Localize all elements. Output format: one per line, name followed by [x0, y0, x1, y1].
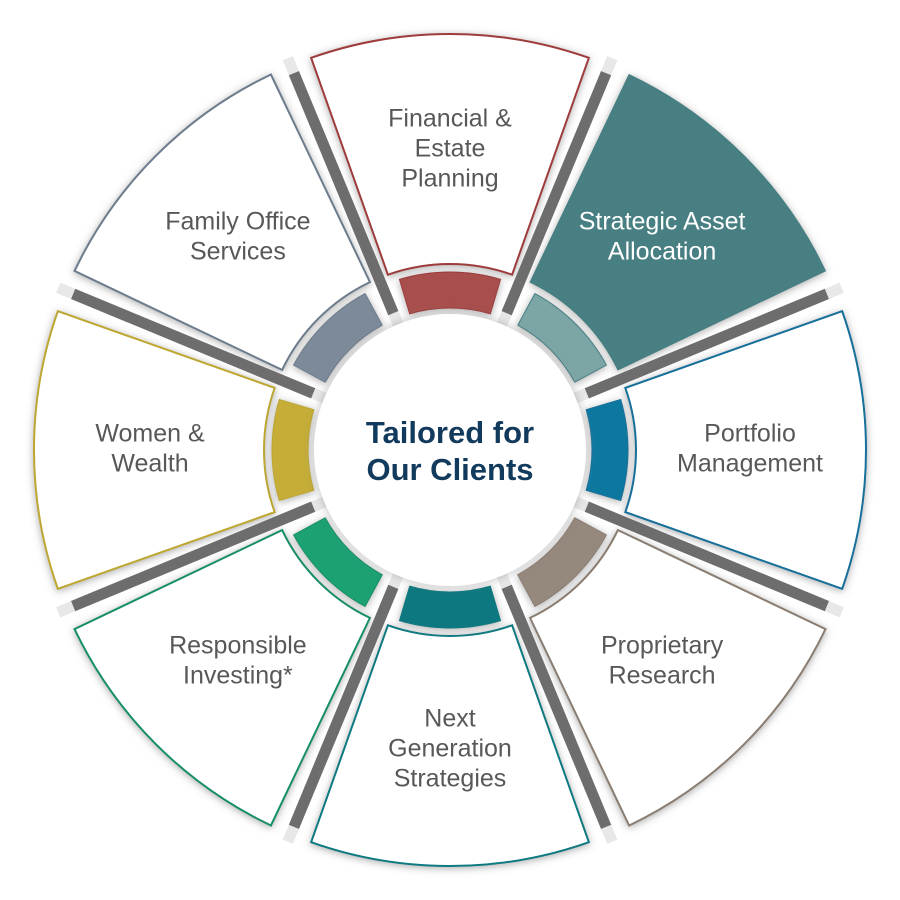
spoke-cap	[58, 606, 73, 612]
spoke-cap	[58, 288, 73, 294]
inner-arc-financial-estate-planning[interactable]	[399, 272, 500, 314]
segment-label-portfolio-management: Portfolio	[704, 420, 796, 448]
segment-label-women-wealth: Wealth	[111, 450, 188, 478]
segment-label-responsible-investing: Responsible	[169, 632, 307, 660]
segment-label-strategic-asset-allocation: Strategic Asset	[579, 208, 746, 236]
inner-arc-portfolio-management[interactable]	[586, 399, 628, 500]
spoke-cap	[606, 58, 612, 73]
spoke-cap	[288, 827, 294, 842]
wheel-diagram: Financial &EstatePlanningStrategic Asset…	[0, 0, 900, 900]
segment-label-portfolio-management: Management	[677, 450, 823, 478]
spoke-cap	[827, 288, 842, 294]
segment-label-financial-estate-planning: Financial &	[388, 105, 512, 133]
wheel-svg: Financial &EstatePlanningStrategic Asset…	[0, 0, 900, 900]
segment-label-strategic-asset-allocation: Allocation	[608, 238, 716, 266]
segment-label-responsible-investing: Investing*	[183, 662, 293, 690]
spoke-cap	[827, 606, 842, 612]
spoke-cap	[606, 827, 612, 842]
segment-label-family-office-services: Services	[190, 238, 286, 266]
inner-arc-next-generation-strategies[interactable]	[399, 586, 500, 628]
segment-label-financial-estate-planning: Estate	[415, 135, 486, 163]
segment-label-proprietary-research: Proprietary	[601, 632, 724, 660]
inner-arc-women-wealth[interactable]	[272, 399, 314, 500]
segment-label-next-generation-strategies: Next	[424, 705, 475, 733]
segment-label-proprietary-research: Research	[609, 662, 716, 690]
spoke-cap	[288, 58, 294, 73]
center-title-line-2: Our Clients	[366, 452, 533, 487]
segment-label-women-wealth: Women &	[95, 420, 205, 448]
segment-label-next-generation-strategies: Generation	[388, 735, 512, 763]
center-title-line-1: Tailored for	[366, 415, 534, 450]
segment-label-family-office-services: Family Office	[165, 208, 310, 236]
segment-label-next-generation-strategies: Strategies	[394, 765, 507, 793]
segment-label-financial-estate-planning: Planning	[401, 165, 498, 193]
